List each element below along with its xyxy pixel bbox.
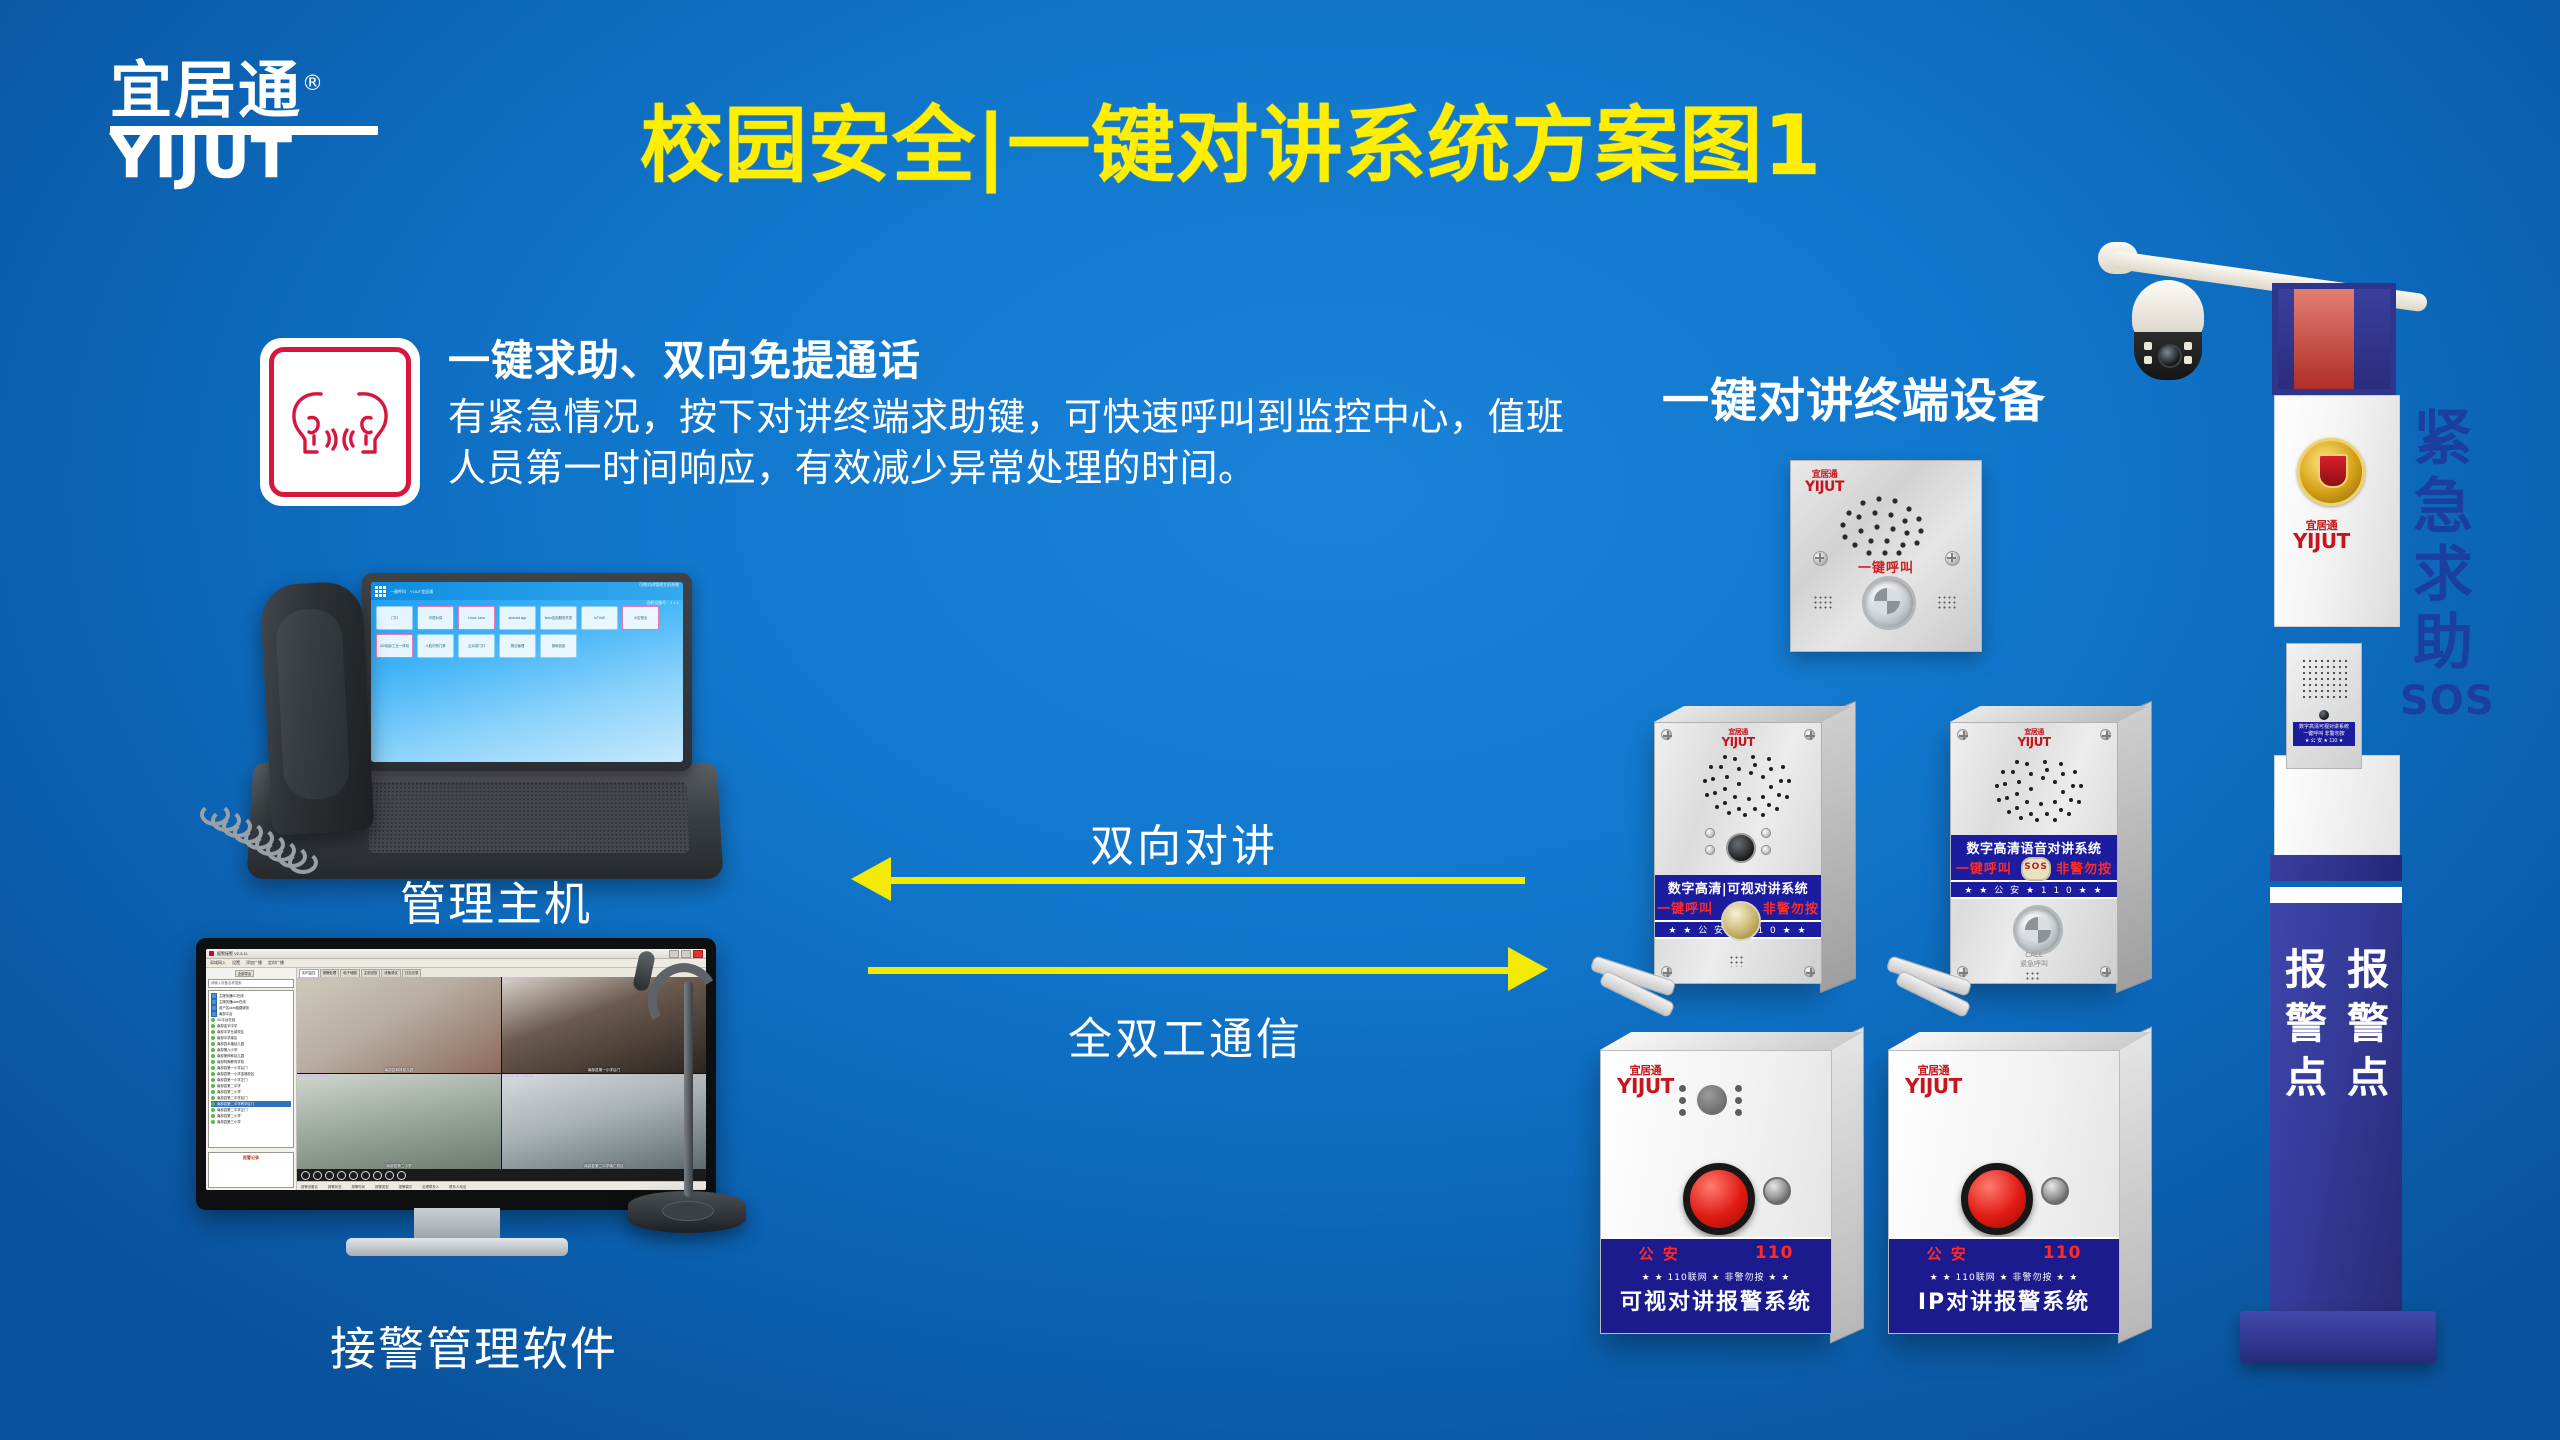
mic-hole-icon: [1937, 595, 1957, 611]
pillar-stripe-blue: [2270, 855, 2402, 881]
device-front-panel: 宜居通 YIJUT 数字高清语音对讲系统: [1950, 722, 2118, 984]
ir-led-icon: [2184, 356, 2192, 364]
phone-tile[interactable]: 云对讲门口: [458, 634, 495, 658]
brand-logo-en: YIJUT: [110, 129, 430, 185]
phone-tile[interactable]: 4G电话/工业一体机: [376, 634, 413, 658]
monitor-stand: [414, 1208, 500, 1242]
phone-tile[interactable]: 小区物业: [622, 606, 659, 630]
one-key-call-panel[interactable]: 宜居通 YIJUT 一键呼叫: [1790, 460, 1982, 652]
police-stars-line: ★ ★ 公 安 ★ 1 1 0 ★ ★: [1951, 880, 2117, 899]
pillar-main-text: 紧急求助 SOS: [2400, 405, 2486, 725]
plate-line-1: 数字高清可视对讲系统: [2293, 724, 2355, 731]
phone-brand-label: YIJUT宜居通: [410, 589, 433, 594]
flow-arrow-left-head: [851, 857, 891, 901]
plate-line-2: 一键呼叫 非警勿按: [2293, 731, 2355, 738]
key-lock-icon[interactable]: [2041, 1177, 2069, 1205]
pillar-column-right: 报警点: [2340, 943, 2396, 1105]
device-front-panel: 宜居通 YIJUT: [1654, 722, 1822, 984]
police-emblem-icon: [2297, 438, 2365, 506]
banner-sub-left: 一键呼叫: [1956, 862, 2012, 877]
device-top-panel: [1600, 1032, 1863, 1050]
pillar-column-left: 报警点: [2278, 943, 2334, 1105]
banner-title: 数字高清语音对讲系统: [1951, 835, 2117, 858]
police-label: 公 安: [1639, 1243, 1680, 1264]
brand-mark: 宜居通 YIJUT: [1617, 1065, 1674, 1096]
phone-tile[interactable]: 物业管理: [499, 634, 536, 658]
window-title: 报警接警 V2.3.11: [217, 951, 248, 957]
screw-icon: [1804, 729, 1815, 740]
section-title-terminals: 一键对讲终端设备: [1662, 362, 2046, 431]
flow-label-up: 双向对讲: [1090, 810, 1278, 874]
phone-handset[interactable]: [260, 581, 375, 836]
tab-playback[interactable]: 主机回放: [361, 969, 381, 977]
flow-arrow-left-line: [880, 877, 1525, 884]
monitor-foot: [346, 1238, 568, 1256]
one-key-call-label: 一键呼叫: [1791, 557, 1981, 576]
police-number: 110: [2043, 1243, 2082, 1263]
ir-led-icon: [1761, 845, 1771, 855]
device-top-panel: [1888, 1032, 2151, 1050]
pillar-panel-plate: 数字高清可视对讲系统 一键呼叫 非警勿按 ★ 公 安 ★ 110 ★: [2293, 722, 2355, 746]
pillar-body: 报警点 报警点: [2270, 903, 2402, 1323]
phone-tile[interactable]: linux应用服务开发: [540, 606, 577, 630]
ir-led-icon: [1705, 828, 1715, 838]
brand-mark-en: YIJUT: [1905, 1076, 1962, 1096]
pillar-upper-panel: 宜居通 YIJUT: [2274, 395, 2400, 627]
brand-mark-en: YIJUT: [1721, 736, 1754, 748]
pillar-stripe-white: [2270, 887, 2402, 903]
screw-icon: [1804, 966, 1815, 977]
phone-tile[interactable]: IoT/IoE: [581, 606, 618, 630]
phone-tile[interactable]: 门口: [376, 606, 413, 630]
microphone-gooseneck: [640, 956, 726, 1045]
status-led-group: [1735, 1085, 1742, 1116]
two-people-talking-icon: [260, 338, 420, 506]
status-col: 报警设备名: [301, 1184, 318, 1189]
phone-touchscreen[interactable]: 一键呼叫 YIJUT宜居通 可视对讲管理主机系统 当前设备号：1 1 1 门口 …: [371, 582, 683, 762]
screw-icon: [1661, 729, 1672, 740]
banner-sub-right: 非警勿按: [2056, 862, 2112, 877]
software-sidebar: 在线:4 离线:2 全部导出 请输入设备名称搜索 主服务器IIC在线 主服务器u…: [206, 968, 297, 1190]
ptz-icon[interactable]: [361, 1171, 370, 1180]
speaker-grill-icon: [1835, 491, 1939, 557]
stop-icon[interactable]: [313, 1171, 322, 1180]
banner-title: 数字高清|可视对讲系统: [1655, 875, 1821, 898]
call-button-icon[interactable]: [2013, 905, 2063, 955]
phone-tile[interactable]: 基础信息: [540, 634, 577, 658]
status-col: 报警模式: [399, 1184, 413, 1189]
menu-item[interactable]: 局域网入: [210, 960, 226, 966]
brand-mark: 宜居通 YIJUT: [2293, 520, 2350, 551]
phone-screen-body: 一键呼叫 YIJUT宜居通 可视对讲管理主机系统 当前设备号：1 1 1 门口 …: [362, 573, 692, 771]
poster-canvas: 宜居通® YIJUT 校园安全|一键对讲系统方案图1 一键求助、双向免提通话 有…: [0, 0, 2560, 1440]
banner-sub: 一键呼叫 非警勿按 SOS: [1951, 858, 2117, 880]
police-label: 公 安: [1927, 1243, 1968, 1264]
snapshot-icon[interactable]: [325, 1171, 334, 1180]
ip-intercom-alarm-box[interactable]: 宜居通 YIJUT 公 安 110 ★ ★ 110联网 ★ 非警勿按 ★ ★ I…: [1888, 1050, 2120, 1334]
tab-debug[interactable]: 设备调试: [381, 969, 401, 977]
video-timestamp: 2021-07-23 13:06:14: [298, 1074, 328, 1078]
phone-status-1: 可视对讲管理主机系统: [639, 582, 679, 587]
banner-sub-line: ★ ★ 110联网 ★ 非警勿按 ★ ★: [1889, 1267, 2119, 1284]
video-timestamp: 2021-07-23 13:06:16: [503, 977, 533, 981]
call-button-icon[interactable]: [1862, 576, 1916, 630]
screw-icon: [1957, 729, 1968, 740]
volume-icon[interactable]: [349, 1171, 358, 1180]
banner-sub-left: 一键呼叫: [1657, 902, 1713, 917]
tab-live[interactable]: 实时监控: [299, 969, 319, 977]
speaker-grill-icon: [1685, 751, 1793, 817]
management-host-phone: 一键呼叫 YIJUT宜居通 可视对讲管理主机系统 当前设备号：1 1 1 门口 …: [170, 565, 730, 895]
online-count: 在线:4: [208, 971, 219, 976]
registered-mark: ®: [302, 71, 323, 95]
brand-logo-cn: 宜居通®: [110, 52, 430, 122]
pillar-intercom-panel[interactable]: 数字高清可视对讲系统 一键呼叫 非警勿按 ★ 公 安 ★ 110 ★: [2286, 643, 2362, 769]
phone-screen-topbar: 一键呼叫 YIJUT宜居通 可视对讲管理主机系统 当前设备号：1 1 1: [371, 582, 683, 600]
phone-menu-label: 一键呼叫: [390, 589, 406, 594]
phone-tile[interactable]: 人脸识别门禁: [417, 634, 454, 658]
export-all-button[interactable]: 全部导出: [235, 970, 255, 977]
video-pane[interactable]: 2021-07-23 13:06:14 南部县和林幼儿园: [297, 977, 501, 1073]
layout-icon[interactable]: [337, 1171, 346, 1180]
police-band: 公 安 110: [1601, 1237, 1831, 1269]
video-timestamp: 2021-07-23 13:06:14: [298, 977, 328, 981]
status-col: 报警类型: [375, 1184, 389, 1189]
tab-logs[interactable]: 日志记录: [402, 969, 422, 977]
status-col: 处理联系人: [422, 1184, 439, 1189]
mute-icon[interactable]: [385, 1171, 394, 1180]
pillar-alarm-lamp: [2272, 283, 2396, 395]
caption-management-host: 管理主机: [400, 868, 592, 934]
device-side-panel: [2118, 1026, 2152, 1343]
caption-alarm-software: 接警管理软件: [330, 1313, 618, 1379]
tab-alarm[interactable]: 报警处理: [320, 969, 340, 977]
pillar-base-plate: [2240, 1311, 2436, 1363]
app-icon: [209, 951, 214, 956]
video-pane[interactable]: 2021-07-23 13:06:14 南部县第二中学: [297, 1074, 501, 1170]
call-knob-button[interactable]: [1721, 901, 1761, 941]
mic-hole-icon: [1729, 955, 1745, 967]
brand-logo: 宜居通® YIJUT: [110, 52, 430, 182]
video-intercom-alarm-box[interactable]: 宜居通 YIJUT 公 安 110 ★ ★ 110联网 ★ 非警勿按 ★ ★ 可…: [1600, 1050, 1832, 1334]
mic-icon[interactable]: [373, 1171, 382, 1180]
feature-heading: 一键求助、双向免提通话: [448, 336, 1578, 386]
mic-hole-icon: [1813, 595, 1833, 611]
screw-icon: [1661, 966, 1672, 977]
emergency-alarm-button[interactable]: [1683, 1163, 1755, 1235]
device-bottom-banner: ★ ★ 110联网 ★ 非警勿按 ★ ★ 可视对讲报警系统: [1601, 1267, 1831, 1333]
device-front-panel: 宜居通 YIJUT 公 安 110 ★ ★ 110联网 ★ 非警勿按 ★ ★ 可…: [1600, 1050, 1832, 1334]
video-name: 南部县和林幼儿园: [297, 1068, 501, 1073]
call-button-caption-cn: 紧急呼叫: [1951, 959, 2117, 969]
video-name: 南部县第二中学: [297, 1164, 501, 1169]
screw-icon: [1957, 966, 1968, 977]
device-tree[interactable]: 主服务器IIC在线 主服务器ukm在线 用户名ukm链路服务 南部平台 4G平台…: [208, 990, 294, 1148]
brand-mark-en: YIJUT: [2293, 531, 2350, 551]
phone-tile[interactable]: android app: [499, 606, 536, 630]
pillar-sos-text: SOS: [2400, 677, 2486, 725]
device-search-input[interactable]: 请输入设备名称搜索: [208, 979, 294, 988]
phone-app-tiles: 门口 可视对讲 Linux Java android app linux应用服务…: [371, 600, 683, 664]
brand-mark-en: YIJUT: [2017, 736, 2050, 748]
menu-item[interactable]: 添加广播: [246, 960, 262, 966]
voice-intercom-terminal[interactable]: 宜居通 YIJUT 数字高清语音对讲系统: [1950, 722, 2118, 984]
alarm-record-panel: 报警记录: [208, 1152, 294, 1188]
screw-icon: [2100, 729, 2111, 740]
brand-mark: 宜居通 YIJUT: [1905, 1065, 1962, 1096]
sos-chip-icon: SOS: [2021, 857, 2051, 881]
record-icon[interactable]: [301, 1171, 310, 1180]
device-top-panel: [1950, 706, 2148, 722]
menu-item[interactable]: 定时广播: [268, 960, 284, 966]
device-front-panel: 宜居通 YIJUT 公 安 110 ★ ★ 110联网 ★ 非警勿按 ★ ★ I…: [1888, 1050, 2120, 1334]
ir-led-icon: [2144, 342, 2152, 350]
tree-node[interactable]: 南部县第三小学: [211, 1119, 291, 1125]
desktop-microphone: [600, 945, 770, 1275]
phone-status-2: 当前设备号：1 1 1: [646, 600, 679, 605]
device-banner: 数字高清语音对讲系统 一键呼叫 非警勿按 SOS ★ ★ 公 安 ★ 1 1 0…: [1951, 835, 2117, 899]
app-grid-icon[interactable]: [375, 586, 386, 597]
offline-count: 离线:2: [221, 971, 232, 976]
police-band: 公 安 110: [1889, 1237, 2119, 1269]
camera-lens-icon: [2319, 710, 2329, 720]
feature-body: 有紧急情况，按下对讲终端求助键，可快速呼叫到监控中心，值班人员第一时间响应，有效…: [448, 392, 1578, 494]
banner-main-label: IP对讲报警系统: [1889, 1284, 2119, 1316]
speaker-icon: [1697, 1085, 1727, 1115]
brand-mark: 宜居通 YIJUT: [1721, 729, 1754, 748]
brand-mark-en: YIJUT: [1617, 1076, 1674, 1096]
status-col: 报警状态: [328, 1184, 342, 1189]
screw-icon: [2100, 966, 2111, 977]
banner-sub-line: ★ ★ 110联网 ★ 非警勿按 ★ ★: [1601, 1267, 1831, 1284]
alarm-record-title: 报警记录: [209, 1153, 293, 1163]
feature-text-block: 一键求助、双向免提通话 有紧急情况，按下对讲终端求助键，可快速呼叫到监控中心，值…: [448, 336, 1578, 494]
camera-lens-icon: [1726, 833, 1756, 863]
ir-led-icon: [1761, 828, 1771, 838]
call-button-caption-en: CALL: [1951, 951, 2117, 959]
fullscreen-icon[interactable]: [397, 1171, 406, 1180]
phone-tile[interactable]: Linux Java: [458, 606, 495, 630]
camera-lens-head: [2134, 332, 2202, 380]
microphone-base[interactable]: [628, 1191, 746, 1233]
phone-tile[interactable]: 可视对讲: [417, 606, 454, 630]
flow-label-down: 全双工通信: [1068, 1003, 1303, 1067]
banner-sub-right: 非警勿按: [1763, 902, 1819, 917]
status-col: 联系人电话: [449, 1184, 466, 1189]
police-number: 110: [1755, 1243, 1794, 1263]
status-col: 报警时间: [352, 1184, 366, 1189]
key-lock-icon[interactable]: [1763, 1177, 1791, 1205]
device-side-panel: [2116, 701, 2152, 994]
mic-hole-icon: [2025, 971, 2041, 981]
phone-speaker-grille: [369, 782, 690, 853]
device-bottom-banner: ★ ★ 110联网 ★ 非警勿按 ★ ★ IP对讲报警系统: [1889, 1267, 2119, 1333]
phone-cord: [200, 803, 330, 885]
emergency-sos-pillar[interactable]: 宜居通 YIJUT 紧急求助 SOS 数字高清可视对讲系统 一键呼叫 非警勿按 …: [2230, 255, 2490, 1375]
speaker-grill-icon: [2301, 658, 2347, 702]
brand-mark: 宜居通 YIJUT: [2017, 729, 2050, 748]
tab-map[interactable]: 电子地图: [340, 969, 360, 977]
menu-item[interactable]: 设置: [232, 960, 240, 966]
banner-main-label: 可视对讲报警系统: [1601, 1284, 1831, 1316]
emergency-alarm-button[interactable]: [1961, 1163, 2033, 1235]
pillar-main-text-cn: 紧急求助: [2413, 404, 2473, 678]
status-led-group: [1679, 1085, 1686, 1116]
flow-arrow-right-head: [1508, 947, 1548, 991]
device-side-panel: [1820, 701, 1856, 994]
speaker-grill-icon: [1977, 749, 2085, 829]
ir-led-icon: [1705, 845, 1715, 855]
ir-led-icon: [2144, 356, 2152, 364]
ir-led-icon: [2184, 342, 2192, 350]
video-intercom-terminal[interactable]: 宜居通 YIJUT: [1654, 722, 1822, 984]
video-timestamp: 2021-07-23 13:06:26: [503, 1074, 533, 1078]
page-title: 校园安全|一键对讲系统方案图1: [640, 78, 1822, 198]
plate-line-3: ★ 公 安 ★ 110 ★: [2293, 738, 2355, 745]
device-top-panel: [1654, 706, 1852, 722]
flow-arrow-right-line: [868, 967, 1513, 974]
device-side-panel: [1830, 1026, 1864, 1343]
